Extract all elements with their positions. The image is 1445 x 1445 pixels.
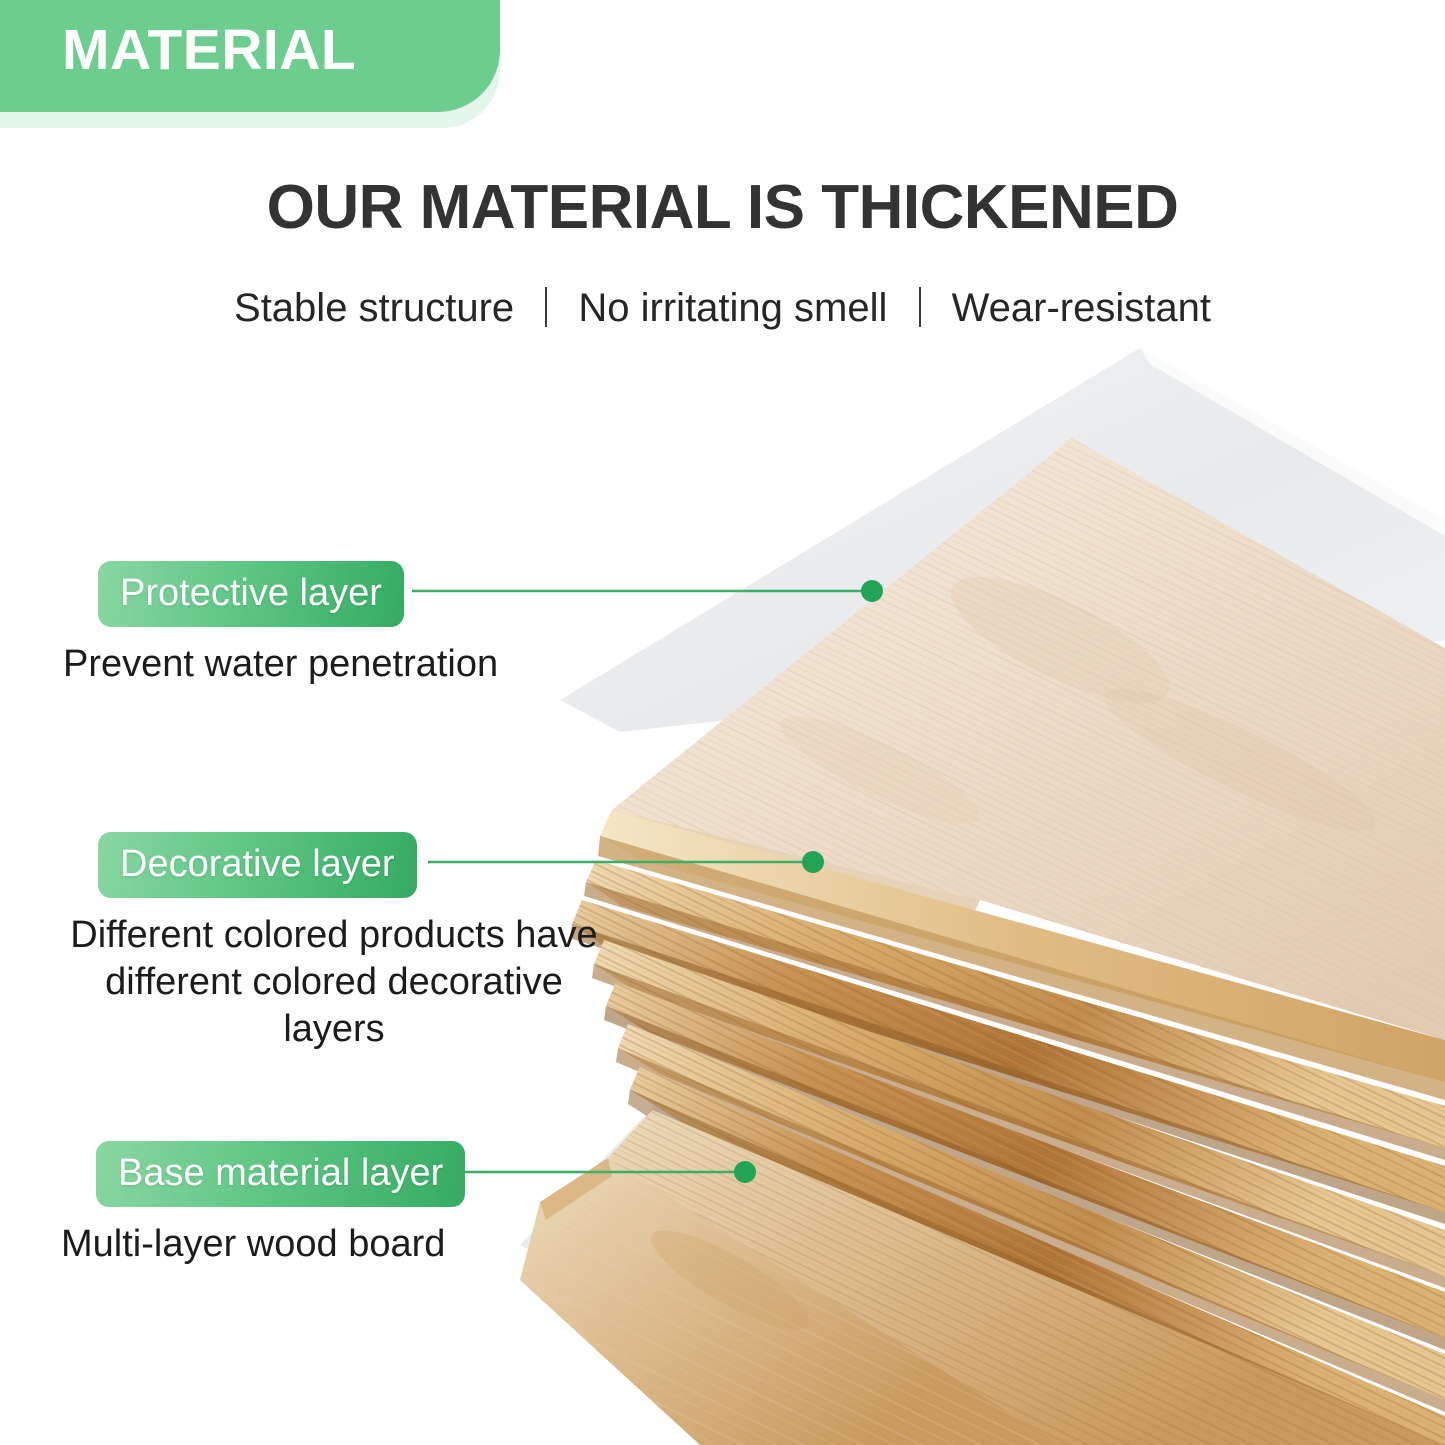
callout-protective-layer: Protective layer Prevent water penetrati…: [98, 561, 498, 688]
feature-item-3: Wear-resistant: [952, 286, 1211, 330]
banner-title: MATERIAL: [62, 14, 356, 86]
desc-protective-layer: Prevent water penetration: [63, 641, 498, 688]
subtitle-separator-1: [545, 287, 547, 327]
page-title: OUR MATERIAL IS THICKENED: [0, 172, 1445, 243]
feature-item-2: No irritating smell: [578, 286, 887, 330]
feature-subtitle: Stable structure No irritating smell Wea…: [0, 286, 1445, 331]
pill-base-material-layer: Base material layer: [96, 1141, 465, 1207]
pill-protective-layer: Protective layer: [98, 561, 404, 627]
desc-base-material-layer: Multi-layer wood board: [61, 1221, 465, 1268]
pill-decorative-layer: Decorative layer: [98, 832, 417, 898]
header-banner: MATERIAL: [0, 0, 560, 132]
desc-decorative-layer: Different colored products have differen…: [54, 912, 614, 1053]
feature-item-1: Stable structure: [234, 286, 514, 330]
callout-decorative-layer: Decorative layer Different colored produ…: [98, 832, 614, 1053]
subtitle-separator-2: [919, 287, 921, 327]
callout-base-material-layer: Base material layer Multi-layer wood boa…: [96, 1141, 465, 1268]
